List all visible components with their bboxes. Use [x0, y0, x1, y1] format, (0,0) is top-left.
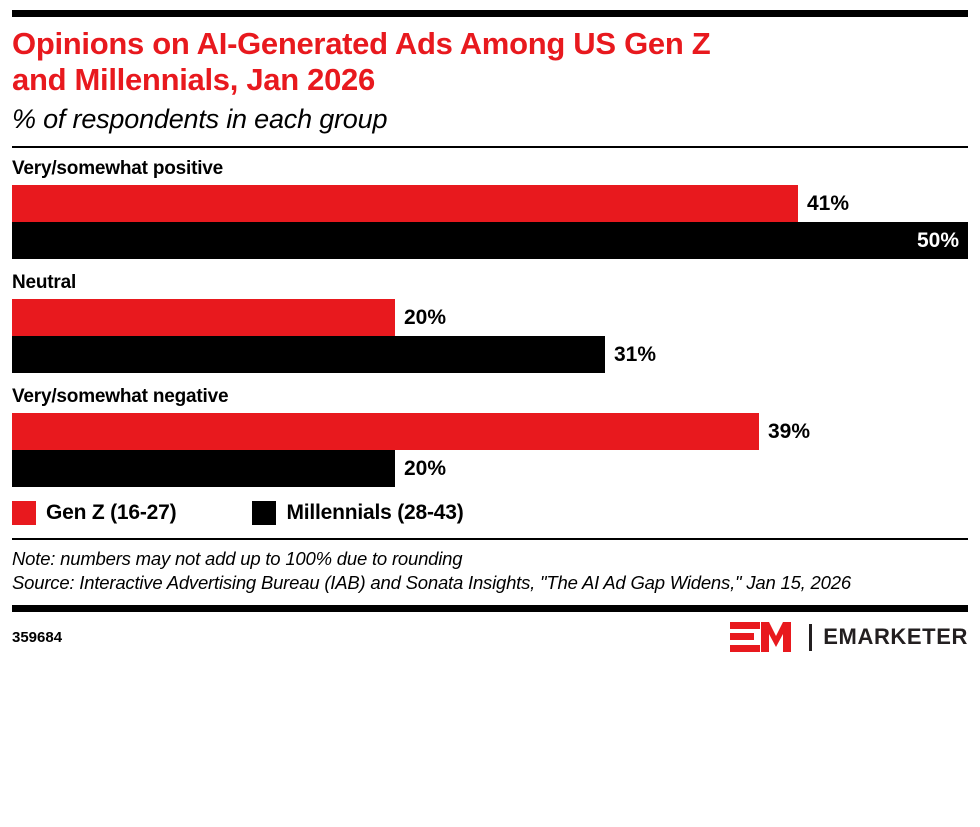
bar-row: 20% — [12, 299, 968, 336]
brand-name: EMARKETER — [823, 624, 968, 650]
bar-group: Neutral 20% 31% — [12, 273, 968, 373]
bar-value-millennials: 31% — [605, 344, 656, 365]
bar-millennials[interactable] — [12, 336, 605, 373]
bar-value-genz: 20% — [395, 307, 446, 328]
legend-swatch-icon-gen-z — [12, 501, 36, 525]
brand-divider — [809, 624, 812, 651]
bar-group: Very/somewhat positive 41% 50% — [12, 159, 968, 259]
page-title: Opinions on AI-Generated Ads Among US Ge… — [12, 26, 968, 98]
chart-plot-area: Very/somewhat positive 41% 50% Neutral 2… — [12, 148, 968, 487]
bar-genz[interactable] — [12, 185, 798, 222]
bar-group-label: Very/somewhat positive — [12, 159, 968, 178]
footer-notes: Note: numbers may not add up to 100% due… — [12, 540, 968, 595]
bar-row: 41% — [12, 185, 968, 222]
bar-millennials[interactable] — [12, 450, 395, 487]
chart-legend: Gen Z (16-27) Millennials (28-43) — [12, 487, 968, 525]
bar-value-millennials: 50% — [917, 230, 959, 251]
footer-bar: 359684 EMARKETER — [12, 612, 968, 652]
bar-value-millennials: 20% — [395, 458, 446, 479]
bar-genz[interactable] — [12, 299, 395, 336]
bar-row: 31% — [12, 336, 968, 373]
top-rule — [12, 10, 968, 17]
legend-item-gen-z[interactable]: Gen Z (16-27) — [12, 501, 176, 525]
chart-header: Opinions on AI-Generated Ads Among US Ge… — [12, 17, 968, 135]
bar-group-label: Very/somewhat negative — [12, 387, 968, 406]
footer-note-text: Note: numbers may not add up to 100% due… — [12, 547, 968, 571]
legend-label-gen-z: Gen Z (16-27) — [46, 501, 176, 525]
bottom-rule — [12, 605, 968, 612]
chart-subtitle: % of respondents in each group — [12, 104, 968, 135]
bar-genz[interactable] — [12, 413, 759, 450]
bar-value-genz: 41% — [798, 193, 849, 214]
emarketer-logomark-icon — [730, 622, 800, 652]
bar-row: 20% — [12, 450, 968, 487]
legend-item-millennials[interactable]: Millennials (28-43) — [252, 501, 463, 525]
bar-row: 50% — [12, 222, 968, 259]
bar-group-label: Neutral — [12, 273, 968, 292]
bar-millennials[interactable] — [12, 222, 968, 259]
footer-source-text: Source: Interactive Advertising Bureau (… — [12, 571, 968, 595]
legend-swatch-icon-millennials — [252, 501, 276, 525]
chart-card: Opinions on AI-Generated Ads Among US Ge… — [0, 10, 980, 827]
legend-label-millennials: Millennials (28-43) — [286, 501, 463, 525]
chart-id: 359684 — [12, 629, 62, 646]
brand-logo: EMARKETER — [730, 622, 968, 652]
bar-value-genz: 39% — [759, 421, 810, 442]
bar-row: 39% — [12, 413, 968, 450]
bar-group: Very/somewhat negative 39% 20% — [12, 387, 968, 487]
